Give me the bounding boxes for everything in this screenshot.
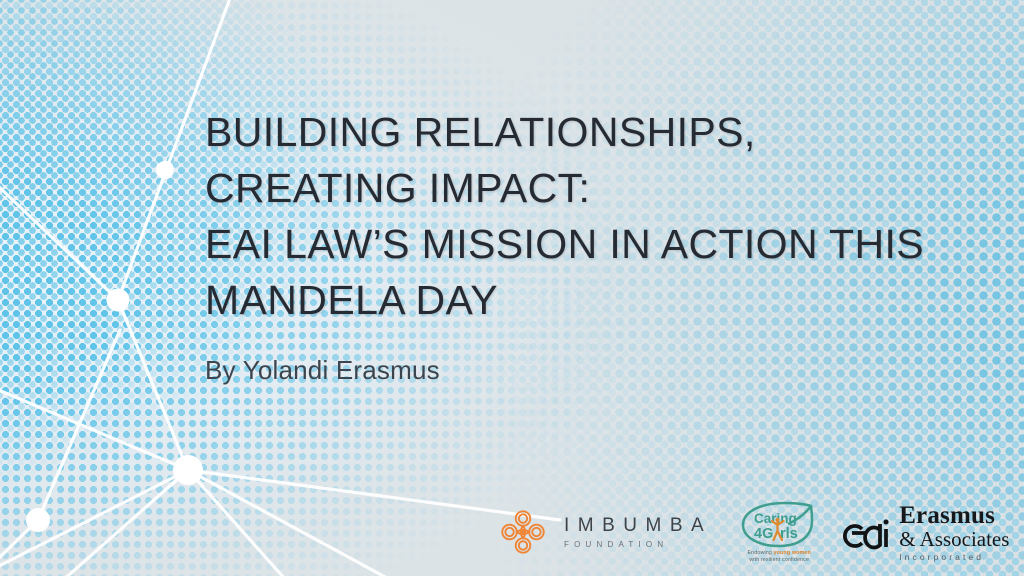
logo-erasmus-associates: Erasmus & Associates Incorporated (832, 503, 1009, 562)
logo-caring-4-girls: Caring 4G rls Endowing young women with … (726, 501, 832, 564)
tagline-highlight: young women (774, 550, 811, 556)
network-node (26, 508, 50, 532)
tagline-prefix: Endowing (747, 550, 773, 556)
slide-title-line-3: EAI LAW’S MISSION IN ACTION THIS (205, 216, 1005, 272)
logo-imbumba-foundation: IMBUMBA FOUNDATION (495, 504, 726, 560)
erasmus-line-2: & Associates (899, 529, 1009, 550)
slide-byline: By Yolandi Erasmus (205, 354, 1005, 386)
erasmus-line-1: Erasmus (899, 503, 1009, 528)
celtic-knot-icon (495, 504, 551, 560)
erasmus-line-3: Incorporated (899, 553, 1009, 562)
slide-title-line-1: BUILDING RELATIONSHIPS, (205, 104, 1005, 160)
svg-text:4G: 4G (754, 526, 773, 542)
tagline-line-2: with resilient confidence (749, 557, 809, 563)
network-node (156, 161, 174, 179)
eai-monogram-icon (842, 507, 890, 557)
presentation-slide: BUILDING RELATIONSHIPS, CREATING IMPACT:… (0, 0, 1024, 576)
network-node (173, 455, 203, 485)
imbumba-name: IMBUMBA (564, 515, 712, 537)
network-node (107, 289, 130, 312)
slide-title-line-4: MANDELA DAY (205, 272, 1005, 328)
partner-logo-bar: IMBUMBA FOUNDATION Caring 4G rls Endowin… (495, 494, 1009, 570)
imbumba-subtitle: FOUNDATION (564, 540, 712, 549)
slide-title-line-2: CREATING IMPACT: (205, 160, 1005, 216)
slide-text-block: BUILDING RELATIONSHIPS, CREATING IMPACT:… (205, 104, 1005, 386)
caring4girls-tagline: Endowing young women with resilient conf… (747, 550, 810, 564)
leaf-icon: Caring 4G rls (736, 501, 822, 549)
